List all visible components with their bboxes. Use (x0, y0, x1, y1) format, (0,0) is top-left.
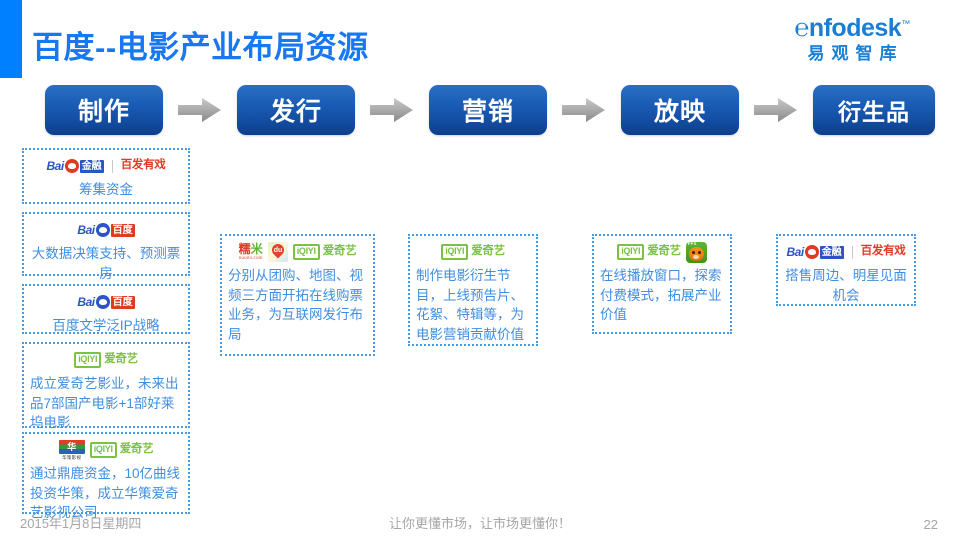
nuomi-cn: 糯米 (239, 243, 263, 255)
iqiyi-cn: 爱奇艺 (120, 444, 154, 456)
right-arrow-icon (562, 95, 606, 125)
card-iqiyi-pictures[interactable]: iQIYI爱奇艺 成立爱奇艺影业，未来出品7部国产电影+1部好莱坞电影 (22, 342, 190, 428)
baidu-map-pin-icon: du (268, 242, 288, 262)
card-derivatives[interactable]: Bai金融 百发有戏 搭售周边、明星见面机会 (776, 234, 916, 306)
huace-sub: 华策影视 (62, 455, 81, 460)
iqiyi-cn: 爱奇艺 (647, 246, 681, 258)
logo-row: iQIYI爱奇艺 (416, 241, 530, 263)
card-text: 大数据决策支持、预测票房 (30, 244, 182, 283)
iqiyi-cn: 爱奇艺 (471, 246, 505, 258)
brand-chinese: 易观智库 (762, 45, 942, 62)
map-pin-label: du (272, 244, 284, 256)
stage-marketing[interactable]: 营销 (429, 85, 547, 135)
logo-row: Bai百度 (30, 291, 182, 313)
pps-monkey-icon (689, 247, 704, 261)
iqiyi-logo: iQIYI爱奇艺 (617, 244, 681, 261)
card-text: 成立爱奇艺影业，未来出品7部国产电影+1部好莱坞电影 (30, 374, 182, 433)
footer-page-number: 22 (924, 517, 938, 532)
footer-slogan: 让你更懂市场，让市场更懂你！ (0, 513, 960, 532)
iqiyi-cn: 爱奇艺 (104, 354, 138, 366)
iqiyi-mark: iQIYI (74, 352, 101, 367)
baidu-bai-text: Bai (77, 296, 94, 308)
card-text: 百度文学泛IP战略 (30, 316, 182, 336)
baidu-finance-suffix: 金融 (80, 160, 104, 173)
card-text: 分别从团购、地图、视频三方面开拓在线购票业务，为互联网发行布局 (228, 266, 367, 344)
iqiyi-cn: 爱奇艺 (323, 246, 357, 258)
stage-label: 放映 (654, 92, 706, 128)
card-distribution[interactable]: 糯米 nuomi.com du iQIYI爱奇艺 分别从团购、地图、视频三方面开… (220, 234, 375, 356)
stage-label: 营销 (462, 92, 514, 128)
map-pin-drop: du (269, 242, 286, 258)
stage-label: 制作 (78, 92, 130, 128)
stage-screening[interactable]: 放映 (621, 85, 739, 135)
card-marketing[interactable]: iQIYI爱奇艺 制作电影衍生节目，上线预告片、花絮、特辑等，为电影营销贡献价值 (408, 234, 538, 346)
paw-icon (805, 245, 819, 259)
card-fundraising[interactable]: Bai金融 百发有戏 筹集资金 (22, 148, 190, 204)
baifa-youxi-logo: 百发有戏 (861, 244, 906, 261)
logo-divider (852, 246, 853, 259)
iqiyi-mark: iQIYI (90, 442, 117, 457)
baidu-finance-logo: Bai金融 (47, 158, 104, 175)
iqiyi-logo: iQIYI爱奇艺 (441, 244, 505, 261)
nuomi-cn-b: 米 (251, 242, 263, 256)
card-text: 在线播放窗口，探索付费模式，拓展产业价值 (600, 266, 724, 325)
brand-tm: ™ (901, 19, 910, 29)
card-ip-strategy[interactable]: Bai百度 百度文学泛IP战略 (22, 284, 190, 334)
logo-row: 糯米 nuomi.com du iQIYI爱奇艺 (228, 241, 367, 263)
baidu-bai-text: Bai (77, 224, 94, 236)
card-text: 制作电影衍生节目，上线预告片、花絮、特辑等，为电影营销贡献价值 (416, 266, 530, 344)
iqiyi-mark: iQIYI (293, 244, 320, 259)
right-arrow-icon (370, 95, 414, 125)
title-accent-bar (0, 0, 22, 78)
card-screening[interactable]: iQIYI爱奇艺 PPS 在线播放窗口，探索付费模式，拓展产业价值 (592, 234, 732, 334)
brand-wordmark: ℮nfodesk™ (762, 16, 942, 41)
stage-distribution[interactable]: 发行 (237, 85, 355, 135)
huace-media-logo: 华 华策影视 (59, 440, 85, 461)
baidu-bai-text: Bai (787, 246, 804, 258)
brand-logo: ℮nfodesk™ 易观智库 (762, 16, 942, 72)
iqiyi-logo: iQIYI爱奇艺 (74, 352, 138, 369)
iqiyi-mark: iQIYI (617, 244, 644, 259)
iqiyi-logo: iQIYI爱奇艺 (293, 244, 357, 261)
value-chain-flow: 制作 发行 营销 放映 衍生品 (45, 84, 925, 136)
right-arrow-icon (178, 95, 222, 125)
huace-glyph: 华 (59, 440, 85, 454)
huace-mark: 华 (59, 440, 85, 454)
card-bigdata[interactable]: Bai百度 大数据决策支持、预测票房 (22, 212, 190, 276)
logo-row: 华 华策影视 iQIYI爱奇艺 (30, 439, 182, 461)
baidu-bai-text: Bai (47, 160, 64, 172)
baidu-logo: Bai百度 (77, 294, 134, 311)
card-text: 筹集资金 (30, 180, 182, 200)
logo-divider (112, 160, 113, 173)
iqiyi-logo: iQIYI爱奇艺 (90, 442, 154, 459)
stage-production[interactable]: 制作 (45, 85, 163, 135)
baidu-suffix: 百度 (111, 296, 135, 309)
logo-row: Bai金融 百发有戏 (30, 155, 182, 177)
page-title: 百度--电影产业布局资源 (32, 22, 369, 67)
baidu-suffix: 百度 (111, 224, 135, 237)
logo-row: Bai百度 (30, 219, 182, 241)
stage-label: 发行 (270, 92, 322, 128)
pps-tag: PPS (688, 242, 697, 246)
baidu-logo: Bai百度 (77, 222, 134, 239)
logo-row: iQIYI爱奇艺 PPS (600, 241, 724, 263)
paw-icon (65, 159, 79, 173)
pps-monkey-snout (693, 255, 699, 259)
logo-row: iQIYI爱奇艺 (30, 349, 182, 371)
iqiyi-mark: iQIYI (441, 244, 468, 259)
card-text: 搭售周边、明星见面机会 (784, 266, 908, 305)
nuomi-logo: 糯米 nuomi.com (239, 242, 263, 262)
stage-derivatives[interactable]: 衍生品 (813, 85, 935, 135)
right-arrow-icon (754, 95, 798, 125)
paw-icon (96, 223, 110, 237)
baidu-finance-suffix: 金融 (820, 246, 844, 259)
nuomi-domain: nuomi.com (239, 255, 263, 260)
brand-wordmark-text: nfodesk (809, 14, 901, 42)
pps-logo: PPS (686, 242, 707, 263)
logo-row: Bai金融 百发有戏 (784, 241, 908, 263)
stage-label: 衍生品 (838, 93, 910, 127)
card-huace-investment[interactable]: 华 华策影视 iQIYI爱奇艺 通过鼎鹿资金，10亿曲线投资华策，成立华策爱奇艺… (22, 432, 190, 514)
nuomi-cn-a: 糯 (239, 242, 251, 256)
baifa-youxi-logo: 百发有戏 (121, 158, 166, 175)
baidu-finance-logo: Bai金融 (787, 244, 844, 261)
brand-e-glyph: ℮ (794, 14, 809, 42)
paw-icon (96, 295, 110, 309)
